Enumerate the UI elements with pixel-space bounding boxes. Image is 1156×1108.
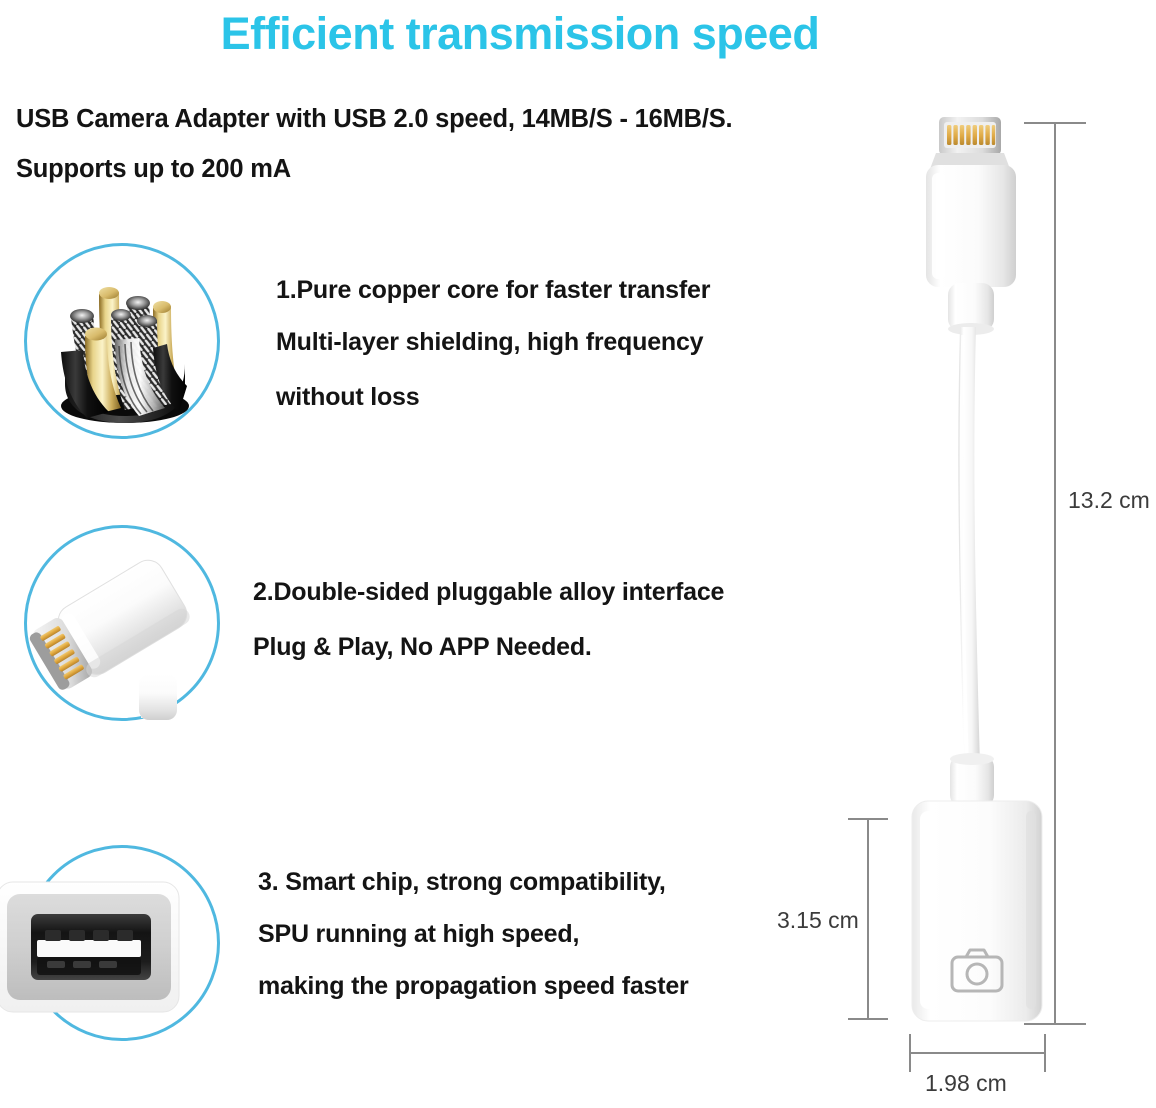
feature-1-line-2: Multi-layer shielding, high frequency [276, 330, 703, 355]
feature-1-badge [24, 243, 220, 439]
body-height-dimension-line [867, 818, 869, 1020]
feature-2-line-2: Plug & Play, No APP Needed. [253, 635, 592, 660]
infographic-page: Efficient transmission speed USB Camera … [0, 0, 1156, 1108]
body-height-label: 3.15 cm [777, 907, 859, 934]
body-width-dimension-line [910, 1052, 1046, 1054]
page-title: Efficient transmission speed [0, 8, 1040, 60]
total-length-label: 13.2 cm [1068, 487, 1150, 514]
total-length-dimension-line [1054, 122, 1056, 1025]
body-height-cap-top [848, 818, 888, 820]
feature-2-line-1: 2.Double-sided pluggable alloy interface [253, 580, 724, 605]
usb-port-illustration [0, 866, 227, 1026]
feature-3-line-3: making the propagation speed faster [258, 974, 689, 999]
copper-wire-illustration [41, 256, 209, 431]
subtitle-line-1: USB Camera Adapter with USB 2.0 speed, 1… [16, 105, 732, 134]
total-length-cap-top [1024, 122, 1086, 124]
feature-3-line-2: SPU running at high speed, [258, 922, 579, 947]
subtitle-line-2: Supports up to 200 mA [16, 155, 291, 184]
body-height-cap-bottom [848, 1018, 888, 1020]
feature-2-badge [24, 525, 220, 721]
feature-3-badge [24, 845, 220, 1041]
copper-wire-bundle-photo [27, 246, 217, 436]
body-width-cap-left [909, 1034, 911, 1072]
usb-a-port-photo [27, 848, 217, 1038]
feature-3-line-1: 3. Smart chip, strong compatibility, [258, 870, 666, 895]
product-photo [860, 95, 1080, 1035]
total-length-cap-bottom [1024, 1023, 1086, 1025]
feature-1-line-1: 1.Pure copper core for faster transfer [276, 278, 710, 303]
feature-1-line-3: without loss [276, 385, 419, 410]
body-width-label: 1.98 cm [925, 1070, 1007, 1097]
lightning-connector-illustration [23, 528, 223, 720]
lightning-connector-photo [27, 528, 217, 718]
body-width-cap-right [1044, 1034, 1046, 1072]
